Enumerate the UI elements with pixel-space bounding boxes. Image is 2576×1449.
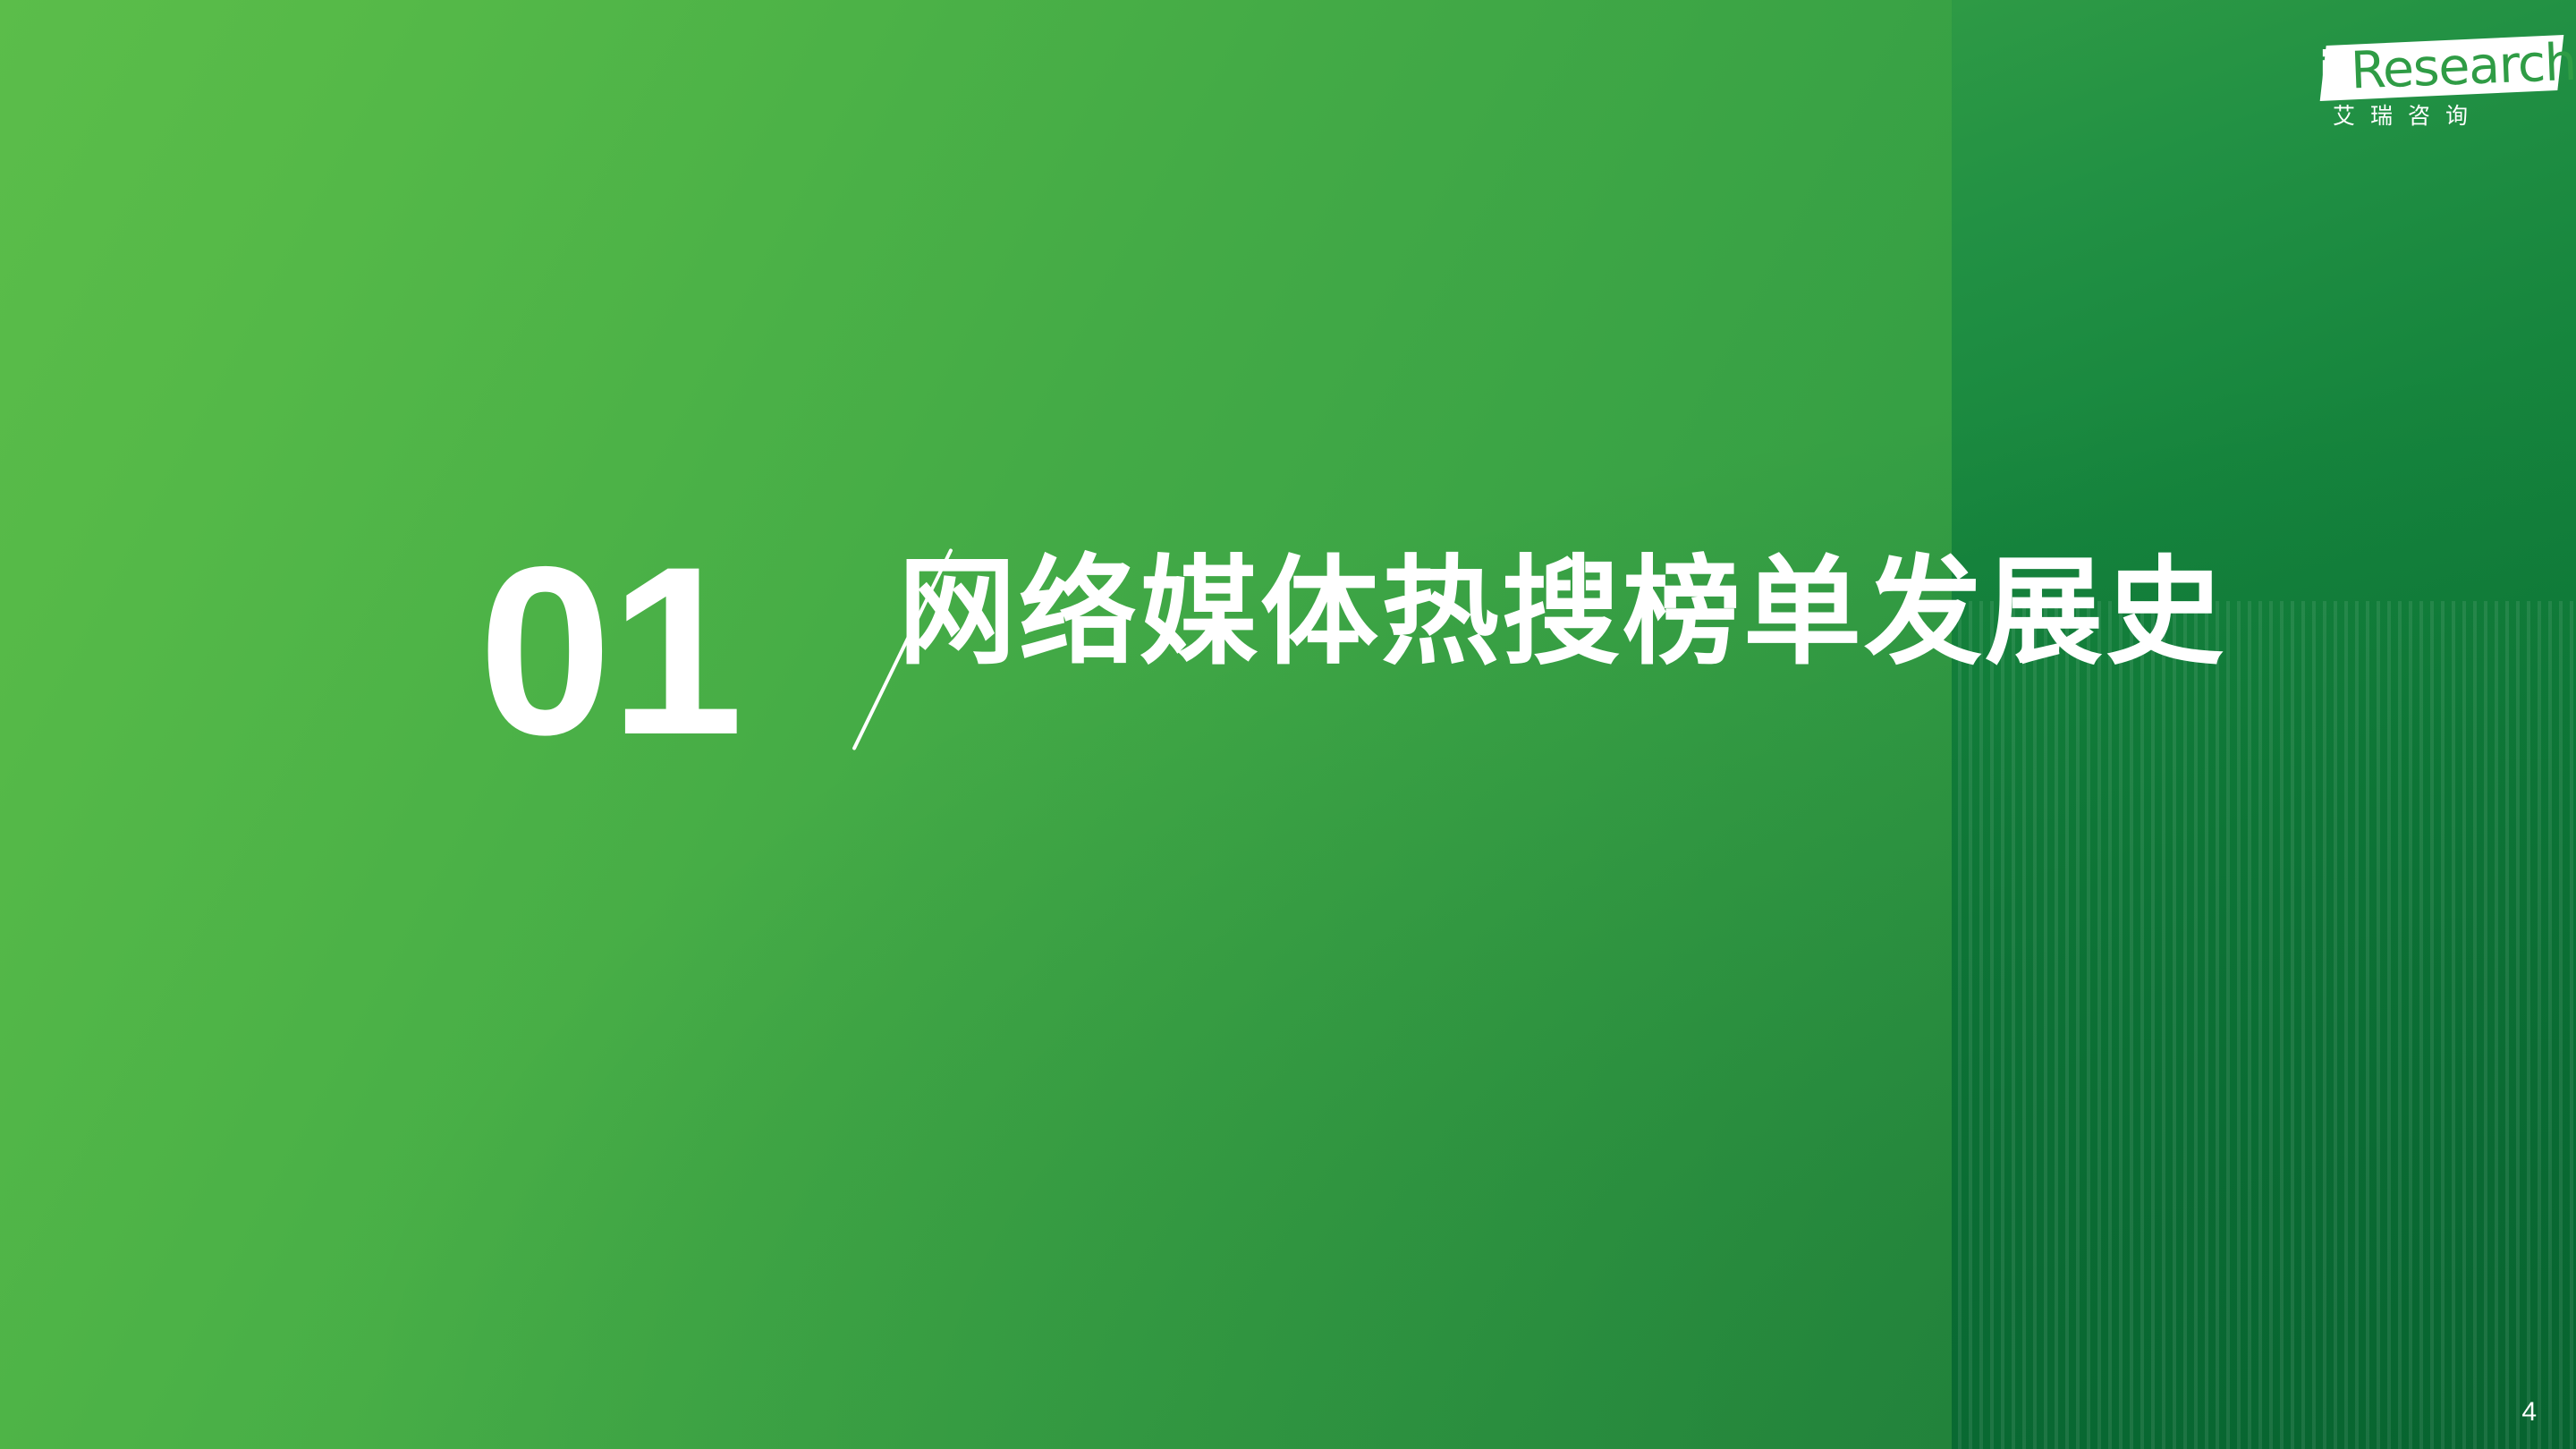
logo-letter-i: i	[2318, 43, 2342, 98]
page-number: 4	[2521, 1397, 2537, 1428]
logo-mark: Research i	[2304, 30, 2562, 98]
logo-subtitle: 艾瑞咨询	[2333, 102, 2483, 131]
slide-canvas: Research i 艾瑞咨询 01 网络媒体热搜榜单发展史 4	[0, 0, 2576, 1449]
iresearch-logo: Research i 艾瑞咨询	[2304, 30, 2562, 138]
background-right-panel	[1952, 0, 2576, 1449]
logo-wordmark: Research	[2350, 36, 2561, 99]
section-title: 网络媒体热搜榜单发展史	[898, 546, 2226, 680]
section-number: 01	[479, 530, 741, 770]
